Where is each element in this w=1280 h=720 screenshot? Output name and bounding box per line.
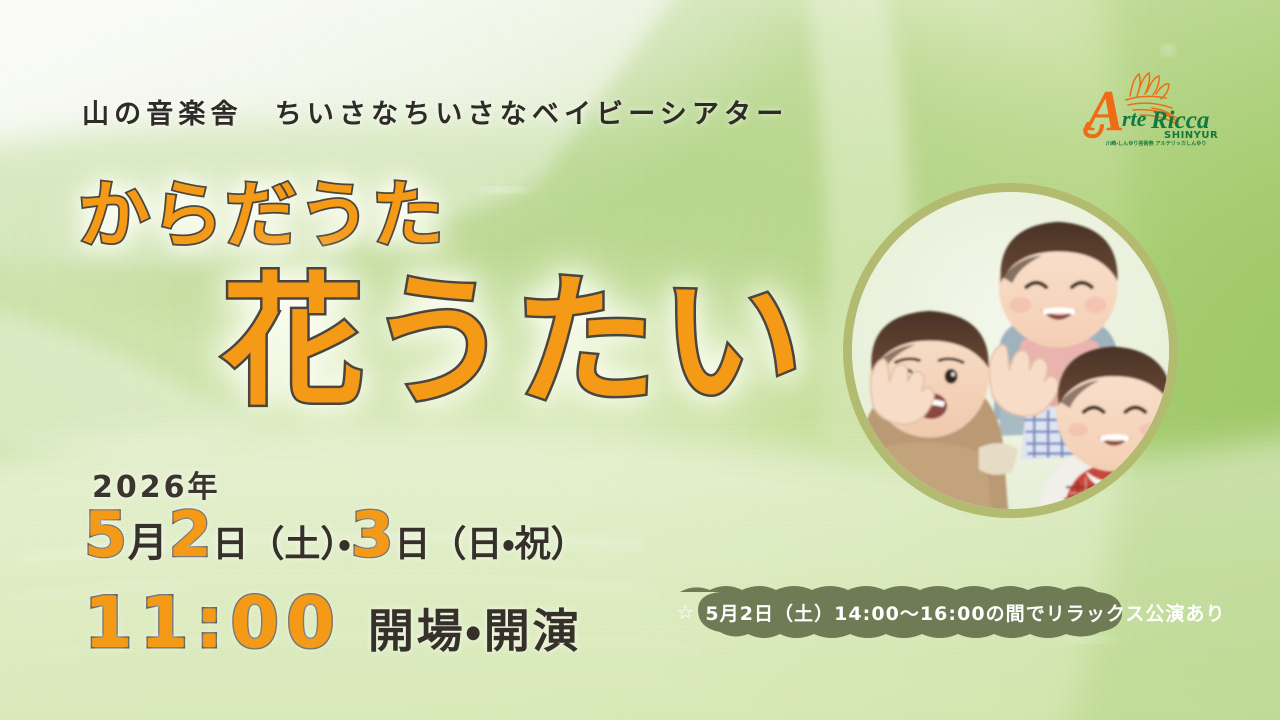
date-day2-label: 日（日・祝） (394, 524, 586, 565)
event-time-line: 11:00開場・開演 (84, 588, 581, 658)
event-date-line: 5月2日（土）・3日（日・祝） (84, 504, 587, 566)
logo-word-rte: rte (1122, 106, 1147, 131)
date-separator: ・ (338, 524, 350, 565)
date-day1-number: 2 (169, 498, 213, 571)
svg-text:A: A (1083, 78, 1125, 143)
event-time: 11:00 (84, 582, 342, 664)
date-day2-number: 3 (351, 498, 395, 571)
event-time-label: 開場・開演 (368, 604, 581, 658)
notice-text: 5月2日（土）14:00〜16:00の間でリラックス公演あり (705, 599, 1225, 626)
organizer-subtitle: 山の音楽舎 ちいさなちいさなベイビーシアター (82, 92, 788, 131)
logo-sub-jp: 川崎・しんゆり芸術祭 アルテリッカしんゆり (1105, 140, 1207, 147)
date-month-kanji: 月 (128, 520, 169, 566)
date-day1-label: 日（土） (212, 524, 338, 565)
relax-performance-notice: ☆5月2日（土）14:00〜16:00の間でリラックス公演あり (650, 586, 1246, 638)
logo-letter-a: A (1083, 78, 1125, 143)
artericca-logo[interactable]: A rte Ricca SHINYURI 川崎・しんゆり芸術祭 アルテリッカしん… (1078, 62, 1218, 148)
title-karadauta: からだうた (78, 179, 445, 251)
notice-text-row: ☆5月2日（土）14:00〜16:00の間でリラックス公演あり (650, 586, 1246, 638)
logo-graphic: A rte Ricca SHINYURI 川崎・しんゆり芸術祭 アルテリッカしん… (1078, 62, 1218, 148)
logo-sub-en: SHINYURI (1164, 130, 1218, 141)
title-hanautai: 花うたい (222, 272, 807, 414)
poster-canvas: 山の音楽舎 ちいさなちいさなベイビーシアター からだうた 花うたい 2026年 … (0, 0, 1280, 720)
photo-illustration (852, 192, 1169, 509)
date-month-number: 5 (84, 498, 128, 571)
baby-photo (843, 183, 1178, 518)
star-icon: ☆ (676, 600, 695, 624)
photo-disc (852, 192, 1169, 509)
